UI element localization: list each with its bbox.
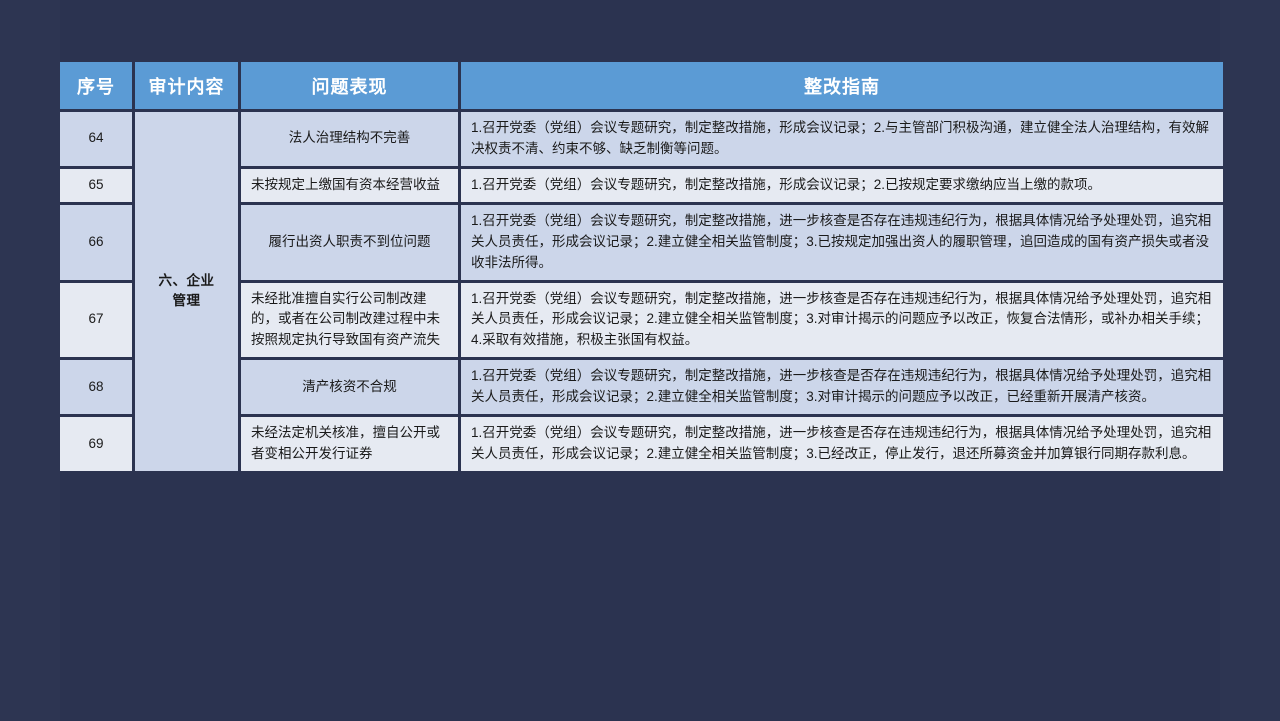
cell-issue: 未经法定机关核准，擅自公开或者变相公开发行证券 — [241, 417, 458, 471]
audit-table-container: 序号 审计内容 问题表现 整改指南 64 六、企业 管理 法人治理结构不完善 1… — [60, 62, 1220, 471]
cell-no: 69 — [60, 417, 132, 471]
table-header: 序号 审计内容 问题表现 整改指南 — [60, 62, 1223, 109]
table-body: 64 六、企业 管理 法人治理结构不完善 1.召开党委（党组）会议专题研究，制定… — [60, 112, 1223, 471]
table-row: 64 六、企业 管理 法人治理结构不完善 1.召开党委（党组）会议专题研究，制定… — [60, 112, 1223, 166]
category-label-line2: 管理 — [145, 291, 228, 312]
cell-guide: 1.召开党委（党组）会议专题研究，制定整改措施，进一步核查是否存在违规违纪行为，… — [461, 360, 1223, 414]
category-label-line1: 六、企业 — [145, 271, 228, 292]
cell-issue: 未按规定上缴国有资本经营收益 — [241, 169, 458, 202]
cell-guide: 1.召开党委（党组）会议专题研究，制定整改措施，进一步核查是否存在违规违纪行为，… — [461, 283, 1223, 358]
cell-no: 66 — [60, 205, 132, 280]
cell-no: 67 — [60, 283, 132, 358]
cell-category-merged: 六、企业 管理 — [135, 112, 238, 471]
table-header-row: 序号 审计内容 问题表现 整改指南 — [60, 62, 1223, 109]
cell-issue: 清产核资不合规 — [241, 360, 458, 414]
background-band-left — [0, 0, 60, 721]
cell-guide: 1.召开党委（党组）会议专题研究，制定整改措施，进一步核查是否存在违规违纪行为，… — [461, 417, 1223, 471]
cell-guide: 1.召开党委（党组）会议专题研究，制定整改措施，形成会议记录；2.已按规定要求缴… — [461, 169, 1223, 202]
column-header-category: 审计内容 — [135, 62, 238, 109]
column-header-no: 序号 — [60, 62, 132, 109]
cell-guide: 1.召开党委（党组）会议专题研究，制定整改措施，进一步核查是否存在违规违纪行为，… — [461, 205, 1223, 280]
cell-no: 64 — [60, 112, 132, 166]
cell-issue: 法人治理结构不完善 — [241, 112, 458, 166]
cell-no: 65 — [60, 169, 132, 202]
column-header-guide: 整改指南 — [461, 62, 1223, 109]
column-header-issue: 问题表现 — [241, 62, 458, 109]
cell-issue: 履行出资人职责不到位问题 — [241, 205, 458, 280]
background-band-right — [1220, 0, 1280, 721]
audit-remediation-table: 序号 审计内容 问题表现 整改指南 64 六、企业 管理 法人治理结构不完善 1… — [57, 59, 1226, 474]
cell-guide: 1.召开党委（党组）会议专题研究，制定整改措施，形成会议记录；2.与主管部门积极… — [461, 112, 1223, 166]
cell-issue: 未经批准擅自实行公司制改建的，或者在公司制改建过程中未按照规定执行导致国有资产流… — [241, 283, 458, 358]
cell-no: 68 — [60, 360, 132, 414]
